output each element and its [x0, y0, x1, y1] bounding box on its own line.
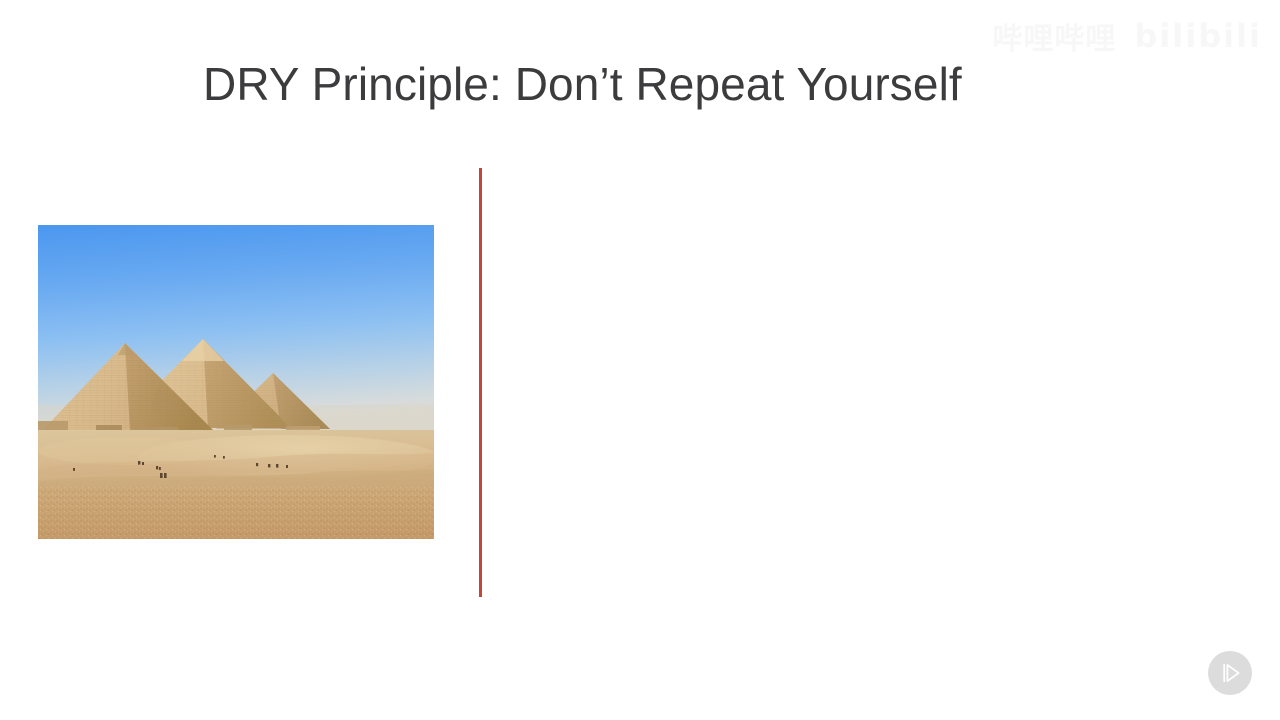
slide-content-area — [512, 168, 1212, 598]
slide-image — [38, 225, 434, 539]
red-vertical-divider — [479, 168, 482, 597]
pyramids-photo-illustration — [38, 225, 434, 539]
play-outline-icon[interactable] — [1208, 651, 1252, 695]
watermark-logo: bilibili — [1134, 17, 1262, 55]
presentation-slide: DRY Principle: Don’t Repeat Yourself 哔哩哔… — [0, 0, 1280, 720]
watermark-text: 哔哩哔哩 — [992, 14, 1116, 58]
page-title: DRY Principle: Don’t Repeat Yourself — [203, 57, 962, 111]
brand-watermark: 哔哩哔哩 bilibili — [992, 14, 1262, 58]
